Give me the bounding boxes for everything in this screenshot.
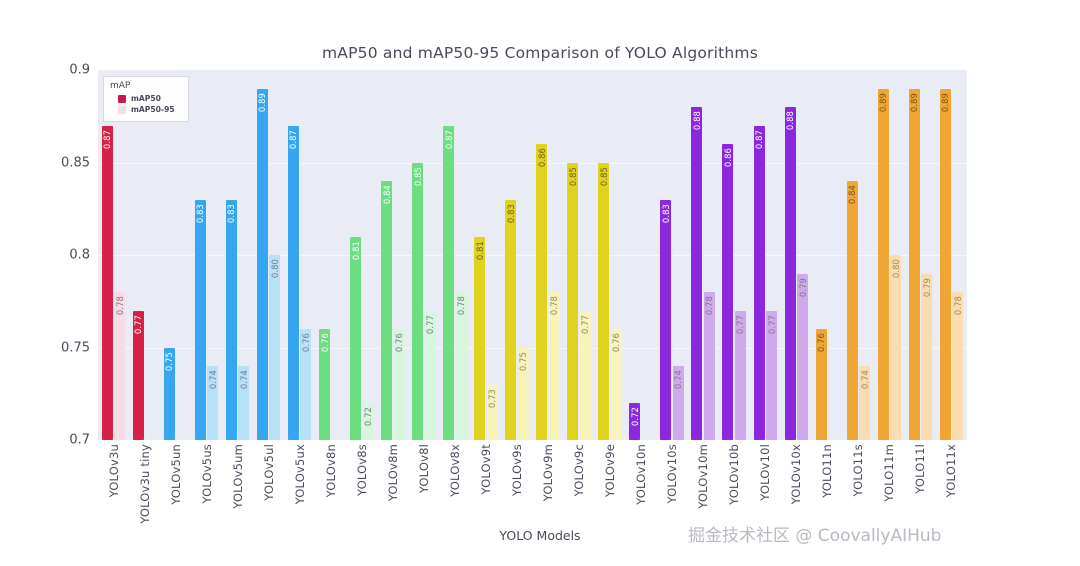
legend[interactable]: mAP mAP50mAP50-95: [103, 76, 189, 122]
bar-value-label: 0.85: [413, 167, 423, 186]
bar-map50[interactable]: 0.76: [816, 329, 827, 440]
bar-value-label: 0.76: [816, 333, 826, 352]
bar-map50[interactable]: 0.87: [102, 126, 113, 441]
bar-map50-95[interactable]: 0.72: [363, 403, 374, 440]
bar-map50-95[interactable]: 0.77: [735, 311, 746, 441]
bar-value-label: 0.83: [661, 204, 671, 223]
bar-value-label: 0.78: [953, 296, 963, 315]
x-axis-tick: YOLOv5us: [200, 444, 214, 504]
bar-map50-95[interactable]: 0.78: [114, 292, 125, 440]
plot-area: 0.870.780.770.750.830.740.830.740.890.80…: [98, 70, 967, 440]
bar-map50[interactable]: 0.86: [722, 144, 733, 440]
bar-value-label: 0.76: [611, 333, 621, 352]
x-axis-tick: YOLO11l: [913, 444, 927, 494]
x-axis-tick: YOLOv5ul: [262, 444, 276, 501]
bar-map50[interactable]: 0.89: [909, 89, 920, 441]
legend-item-map50-95[interactable]: mAP50-95: [118, 105, 182, 114]
x-axis-tick: YOLOv9m: [541, 444, 555, 501]
x-axis-tick: YOLOv10s: [665, 444, 679, 504]
bar-value-label: 0.83: [226, 204, 236, 223]
bar-map50[interactable]: 0.87: [288, 126, 299, 441]
bar-value-label: 0.83: [506, 204, 516, 223]
bar-map50[interactable]: 0.81: [350, 237, 361, 441]
bar-map50-95[interactable]: 0.78: [456, 292, 467, 440]
x-axis-tick: YOLOv5um: [231, 444, 245, 509]
legend-label: mAP50: [131, 94, 161, 103]
y-axis-tick: 0.75: [44, 340, 90, 355]
bar-value-label: 0.77: [767, 315, 777, 334]
bar-value-label: 0.73: [487, 389, 497, 408]
bar-value-label: 0.83: [195, 204, 205, 223]
y-axis-tick: 0.8: [44, 248, 90, 263]
bar-value-label: 0.89: [878, 93, 888, 112]
bar-value-label: 0.79: [798, 278, 808, 297]
bar-value-label: 0.77: [735, 315, 745, 334]
bar-value-label: 0.81: [351, 241, 361, 260]
x-axis-tick: YOLOv8s: [355, 444, 369, 496]
x-axis-tick: YOLOv8m: [386, 444, 400, 501]
bar-map50-95[interactable]: 0.80: [269, 255, 280, 440]
y-axis-tick: 0.85: [44, 155, 90, 170]
legend-swatch-icon: [118, 95, 126, 103]
gridline: [98, 163, 967, 164]
bar-map50-95[interactable]: 0.74: [207, 366, 218, 440]
bar-value-label: 0.88: [692, 111, 702, 130]
bar-map50-95[interactable]: 0.77: [766, 311, 777, 441]
bar-map50-95[interactable]: 0.79: [921, 274, 932, 441]
x-axis-tick: YOLOv5ux: [293, 444, 307, 504]
bar-map50-95[interactable]: 0.74: [859, 366, 870, 440]
x-axis-tick: YOLOv10b: [727, 444, 741, 505]
legend-item-map50[interactable]: mAP50: [118, 94, 182, 103]
x-axis-tick: YOLOv9t: [479, 444, 493, 495]
watermark: 掘金技术社区 @ CoovallyAIHub: [688, 521, 941, 546]
bar-value-label: 0.87: [754, 130, 764, 149]
bar-value-label: 0.80: [891, 259, 901, 278]
x-axis-tick: YOLOv8x: [448, 444, 462, 497]
x-axis-tick: YOLOv8l: [417, 444, 431, 493]
bar-map50-95[interactable]: 0.74: [673, 366, 684, 440]
bar-map50[interactable]: 0.75: [164, 348, 175, 441]
legend-swatch-icon: [118, 106, 126, 114]
bar-map50-95[interactable]: 0.75: [518, 348, 529, 441]
bar-map50[interactable]: 0.72: [629, 403, 640, 440]
x-axis-tick: YOLOv5un: [169, 444, 183, 505]
bar-value-label: 0.74: [860, 370, 870, 389]
x-axis-tick: YOLOv8n: [324, 444, 338, 497]
bar-value-label: 0.89: [257, 93, 267, 112]
bar-map50[interactable]: 0.88: [785, 107, 796, 440]
bar-map50[interactable]: 0.77: [133, 311, 144, 441]
bar-map50[interactable]: 0.89: [878, 89, 889, 441]
bar-value-label: 0.78: [115, 296, 125, 315]
bar-map50[interactable]: 0.83: [226, 200, 237, 441]
x-axis-tick: YOLOv9c: [572, 444, 586, 496]
bar-map50-95[interactable]: 0.79: [797, 274, 808, 441]
bar-value-label: 0.78: [704, 296, 714, 315]
bar-map50-95[interactable]: 0.77: [425, 311, 436, 441]
x-axis-tick: YOLO11m: [882, 444, 896, 502]
x-axis-tick: YOLOv10x: [789, 444, 803, 504]
bar-value-label: 0.84: [382, 185, 392, 204]
chart-page: mAP50 and mAP50-95 Comparison of YOLO Al…: [0, 0, 1080, 566]
bar-value-label: 0.78: [456, 296, 466, 315]
bar-value-label: 0.75: [518, 352, 528, 371]
bar-map50-95[interactable]: 0.78: [704, 292, 715, 440]
y-axis-tick: 0.7: [44, 433, 90, 448]
bar-map50-95[interactable]: 0.76: [611, 329, 622, 440]
bar-map50[interactable]: 0.86: [536, 144, 547, 440]
bar-value-label: 0.72: [363, 407, 373, 426]
bar-map50[interactable]: 0.85: [412, 163, 423, 441]
bar-value-label: 0.72: [630, 407, 640, 426]
x-axis-tick: YOLO11n: [820, 444, 834, 498]
bar-value-label: 0.75: [164, 352, 174, 371]
bar-map50-95[interactable]: 0.78: [549, 292, 560, 440]
bar-map50[interactable]: 0.83: [505, 200, 516, 441]
bar-value-label: 0.86: [537, 148, 547, 167]
x-axis-tick: YOLO11x: [944, 444, 958, 497]
chart-title: mAP50 and mAP50-95 Comparison of YOLO Al…: [0, 44, 1080, 62]
x-axis-tick: YOLO11s: [851, 444, 865, 497]
legend-title: mAP: [110, 81, 182, 91]
y-axis-tick: 0.9: [44, 63, 90, 78]
bar-map50[interactable]: 0.85: [598, 163, 609, 441]
bar-value-label: 0.88: [785, 111, 795, 130]
bar-map50[interactable]: 0.83: [195, 200, 206, 441]
bar-value-label: 0.76: [320, 333, 330, 352]
bar-map50[interactable]: 0.89: [940, 89, 951, 441]
bar-value-label: 0.84: [847, 185, 857, 204]
x-axis-tick: YOLOv10m: [696, 444, 710, 509]
bar-map50-95[interactable]: 0.80: [890, 255, 901, 440]
bar-map50[interactable]: 0.76: [319, 329, 330, 440]
bar-value-label: 0.77: [425, 315, 435, 334]
bar-map50-95[interactable]: 0.77: [580, 311, 591, 441]
bar-value-label: 0.80: [270, 259, 280, 278]
bar-map50[interactable]: 0.89: [257, 89, 268, 441]
bar-value-label: 0.85: [599, 167, 609, 186]
bar-value-label: 0.74: [208, 370, 218, 389]
bar-value-label: 0.77: [580, 315, 590, 334]
bar-map50[interactable]: 0.87: [754, 126, 765, 441]
bar-map50-95[interactable]: 0.73: [487, 385, 498, 441]
x-axis-tick: YOLOv9e: [603, 444, 617, 497]
bar-map50-95[interactable]: 0.78: [952, 292, 963, 440]
x-axis-tick: YOLOv3u: [107, 444, 121, 497]
bar-map50-95[interactable]: 0.76: [300, 329, 311, 440]
legend-label: mAP50-95: [131, 105, 175, 114]
bar-value-label: 0.79: [922, 278, 932, 297]
bar-map50-95[interactable]: 0.74: [238, 366, 249, 440]
bar-value-label: 0.76: [301, 333, 311, 352]
bar-value-label: 0.77: [133, 315, 143, 334]
x-axis-tick: YOLOv3u tiny: [138, 444, 152, 524]
x-axis-tick: YOLOv9s: [510, 444, 524, 496]
bar-map50[interactable]: 0.88: [691, 107, 702, 440]
bar-map50[interactable]: 0.84: [847, 181, 858, 440]
x-axis-tick: YOLOv10n: [634, 444, 648, 505]
bar-map50[interactable]: 0.81: [474, 237, 485, 441]
bar-value-label: 0.78: [549, 296, 559, 315]
bar-map50[interactable]: 0.87: [443, 126, 454, 441]
bar-value-label: 0.89: [909, 93, 919, 112]
bar-value-label: 0.87: [102, 130, 112, 149]
bar-value-label: 0.87: [288, 130, 298, 149]
bar-value-label: 0.86: [723, 148, 733, 167]
bar-value-label: 0.85: [568, 167, 578, 186]
bar-value-label: 0.89: [940, 93, 950, 112]
x-axis-tick: YOLOv10l: [758, 444, 772, 501]
bar-value-label: 0.74: [239, 370, 249, 389]
legend-entries: mAP50mAP50-95: [110, 94, 182, 114]
bar-map50[interactable]: 0.85: [567, 163, 578, 441]
bar-value-label: 0.74: [673, 370, 683, 389]
bar-map50-95[interactable]: 0.76: [394, 329, 405, 440]
bar-value-label: 0.76: [394, 333, 404, 352]
bar-value-label: 0.87: [444, 130, 454, 149]
bar-map50[interactable]: 0.83: [660, 200, 671, 441]
bar-map50[interactable]: 0.84: [381, 181, 392, 440]
bar-value-label: 0.81: [475, 241, 485, 260]
